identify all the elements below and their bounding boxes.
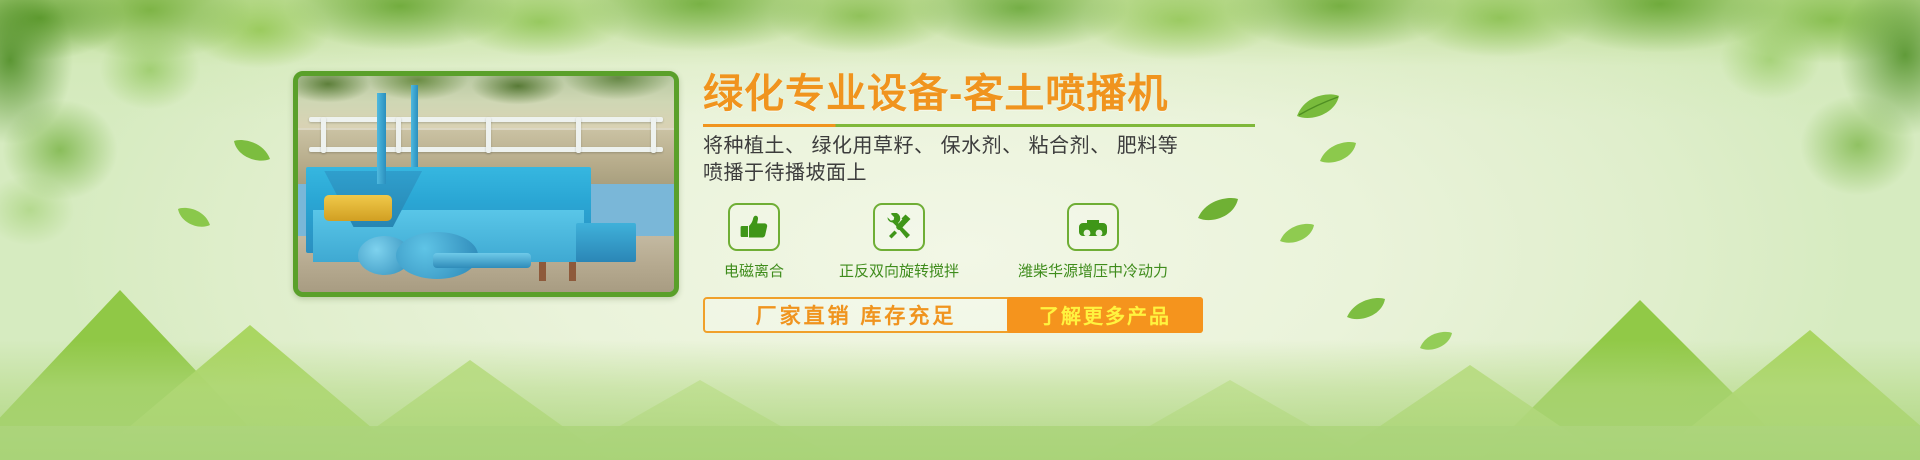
feature-list: 电磁离合 正反双向旋转搅拌 [703, 203, 1323, 281]
banner-content: 绿化专业设备-客土喷播机 将种植土、 绿化用草籽、 保水剂、 粘合剂、 肥料等 … [703, 72, 1323, 333]
feature-item-electromagnetic-clutch: 电磁离合 [703, 203, 805, 281]
feature-icon-box [728, 203, 780, 251]
leaf-icon [1318, 140, 1358, 171]
feature-item-bidirectional-mixing: 正反双向旋转搅拌 [813, 203, 985, 281]
product-photo [293, 71, 679, 297]
title-underline-divider [703, 124, 1255, 127]
learn-more-button[interactable]: 了解更多产品 [1007, 297, 1203, 333]
thumbs-up-icon [739, 214, 769, 240]
feature-icon-box [1067, 203, 1119, 251]
feature-label: 潍柴华源增压中冷动力 [1018, 260, 1168, 281]
feature-item-weichai-power: 潍柴华源增压中冷动力 [993, 203, 1193, 281]
subtitle-line-2: 喷播于待播坡面上 [703, 160, 1323, 187]
wrench-screwdriver-icon [884, 213, 914, 241]
banner-subtitle: 将种植土、 绿化用草籽、 保水剂、 粘合剂、 肥料等 喷播于待播坡面上 [703, 133, 1323, 187]
subtitle-line-1: 将种植土、 绿化用草籽、 保水剂、 粘合剂、 肥料等 [703, 133, 1323, 160]
banner-title: 绿化专业设备-客土喷播机 [703, 72, 1323, 117]
promo-banner: 绿化专业设备-客土喷播机 将种植土、 绿化用草籽、 保水剂、 粘合剂、 肥料等 … [0, 0, 1920, 460]
cta-slogan: 厂家直销 库存充足 [705, 299, 1007, 331]
engine-gear-icon [1077, 214, 1109, 240]
feature-icon-box [873, 203, 925, 251]
cta-bar: 厂家直销 库存充足 了解更多产品 [703, 297, 1203, 333]
feature-label: 电磁离合 [724, 260, 784, 281]
feature-label: 正反双向旋转搅拌 [839, 260, 959, 281]
leaf-icon [232, 138, 272, 169]
